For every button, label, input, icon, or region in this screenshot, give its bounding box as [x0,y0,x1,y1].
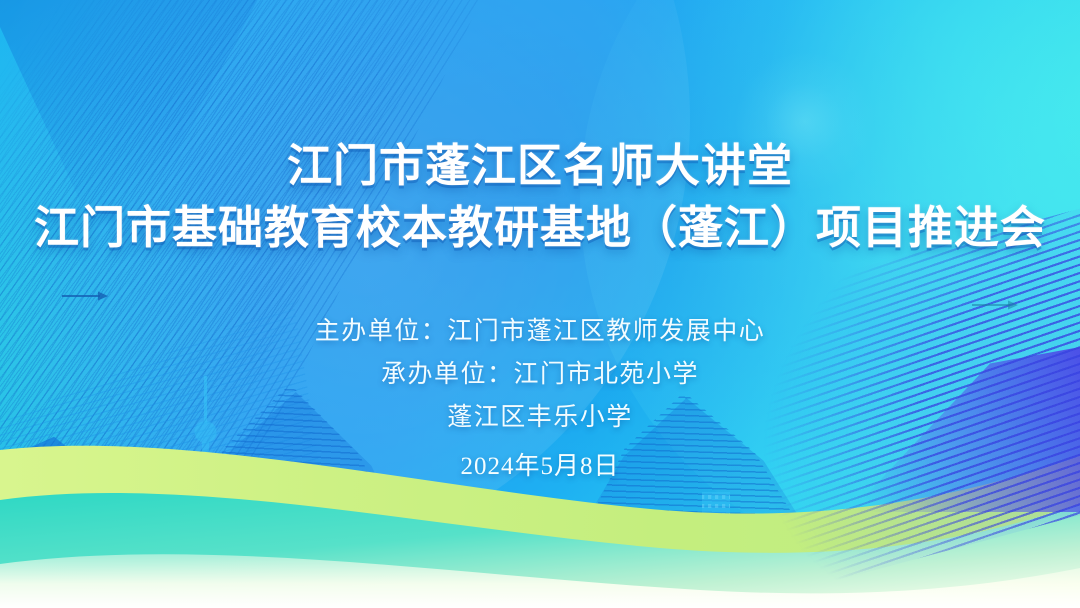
poster-title-line-1: 江门市蓬江区名师大讲堂 [0,138,1080,194]
poster-content: 江门市蓬江区名师大讲堂 江门市基础教育校本教研基地（蓬江）项目推进会 主办单位：… [0,0,1080,608]
organizer-block: 主办单位：江门市蓬江区教师发展中心 承办单位：江门市北苑小学 蓬江区丰乐小学 2… [0,310,1080,488]
organizer-co-host-2: 蓬江区丰乐小学 [0,396,1080,439]
event-date: 2024年5月8日 [0,445,1080,488]
organizer-co-host: 承办单位：江门市北苑小学 [0,353,1080,396]
title-block: 江门市蓬江区名师大讲堂 江门市基础教育校本教研基地（蓬江）项目推进会 [0,138,1080,258]
poster-canvas: 江门市蓬江区名师大讲堂 江门市基础教育校本教研基地（蓬江）项目推进会 主办单位：… [0,0,1080,608]
organizer-host: 主办单位：江门市蓬江区教师发展中心 [0,310,1080,353]
poster-title-line-2: 江门市基础教育校本教研基地（蓬江）项目推进会 [0,198,1080,258]
